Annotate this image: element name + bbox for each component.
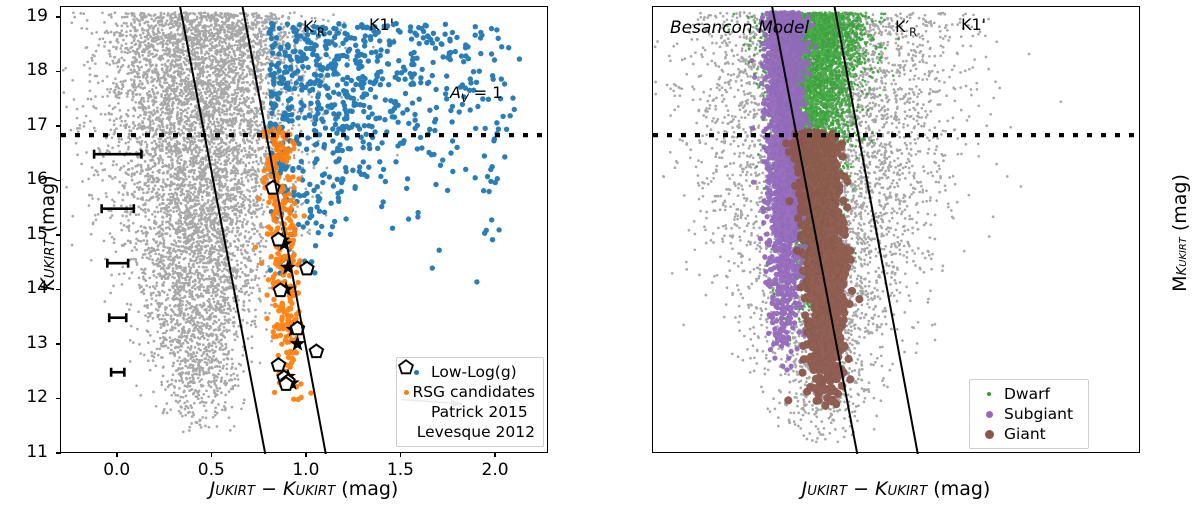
figure-root: 111213141516171819 0.00.51.01.52.0 JUKIR… <box>0 0 1200 515</box>
model-annotation: Besancon Model <box>670 18 809 38</box>
x-title-ksub: UKIRT <box>296 484 336 499</box>
x-tick-mark <box>494 452 496 457</box>
y-tick-label: 18 <box>26 60 48 80</box>
legend-label: Giant <box>1002 425 1046 443</box>
y-tick-mark <box>56 398 61 400</box>
y-title-ksub: UKIRT <box>43 238 58 278</box>
x-tick-mark <box>305 452 307 457</box>
y-tick-mark <box>56 71 61 73</box>
right-legend[interactable]: DwarfSubgiantGiant <box>969 379 1089 449</box>
x-tick-mark <box>211 452 213 457</box>
left-x-axis-title: JUKIRT − KUKIRT (mag) <box>210 478 399 500</box>
x-tick-label: 1.5 <box>387 460 414 480</box>
dot-marker <box>987 392 991 396</box>
y2-title-msub: K <box>1175 267 1190 276</box>
right-kr-prime-label: K′R <box>895 17 917 36</box>
y-title-unit: (mag) <box>37 175 59 238</box>
legend-dot-icon <box>976 430 1002 439</box>
legend-dot-icon <box>976 392 1002 396</box>
x-tick-mark <box>400 452 402 457</box>
left-legend-item[interactable]: Levesque 2012 <box>403 422 535 442</box>
reddening-vector-label: AV = 1 <box>450 83 502 102</box>
y2-title-unit: (mag) <box>1169 174 1191 237</box>
right-legend-item[interactable]: Dwarf <box>976 384 1080 404</box>
av-sub: V <box>461 92 469 105</box>
x-tick-label: 0.0 <box>103 460 130 480</box>
right-legend-item[interactable]: Giant <box>976 424 1080 444</box>
legend-label: RSG candidates <box>410 383 535 401</box>
y-tick-label: 12 <box>26 387 48 407</box>
right-y-axis-title: MKUKIRT (mag) <box>1169 123 1191 343</box>
x-title-unit: (mag) <box>335 478 398 500</box>
left-legend[interactable]: Low-Log(g)RSG candidatesPatrick 2015Leve… <box>396 357 544 447</box>
kr2-text: K′ <box>895 17 909 36</box>
y2-title-msubsub: UKIRT <box>1178 237 1189 267</box>
legend-label: Subgiant <box>1002 405 1073 423</box>
y-tick-label: 11 <box>26 442 48 462</box>
av-label: A <box>450 83 461 102</box>
left-legend-item[interactable]: Patrick 2015 <box>403 402 535 422</box>
dot-marker <box>985 430 994 439</box>
x2-title-jsub: UKIRT <box>807 484 847 499</box>
y-tick-mark <box>56 16 61 18</box>
x2-title-unit: (mag) <box>927 478 990 500</box>
x-tick-label: 1.0 <box>292 460 319 480</box>
dot-marker <box>986 411 993 418</box>
left-y-axis-title: KUKIRT (mag) <box>37 123 59 343</box>
y-tick-mark <box>56 343 61 345</box>
x2-title-ksub: UKIRT <box>888 484 928 499</box>
x-title-k: K <box>283 478 295 500</box>
right-x-axis-title: JUKIRT − KUKIRT (mag) <box>802 478 991 500</box>
left-k1-prime-label: K1' <box>369 15 394 34</box>
legend-label: Dwarf <box>1002 385 1050 403</box>
x2-title-minus: − <box>847 478 875 500</box>
right-legend-item[interactable]: Subgiant <box>976 404 1080 424</box>
kr2-sub: R <box>909 26 917 39</box>
x-tick-label: 2.0 <box>482 460 509 480</box>
x-title-minus: − <box>255 478 283 500</box>
legend-dot-icon <box>976 411 1002 418</box>
left-panel: 111213141516171819 0.00.51.01.52.0 JUKIR… <box>0 0 600 515</box>
x-title-jsub: UKIRT <box>215 484 255 499</box>
y-title-k: K <box>37 278 59 290</box>
kr-text: K′ <box>303 17 317 36</box>
k12-text: K1' <box>961 15 986 34</box>
legend-label: Patrick 2015 <box>429 403 528 421</box>
kr-sub: R <box>317 26 325 39</box>
left-kr-prime-label: K′R <box>303 17 325 36</box>
x-tick-label: 0.5 <box>198 460 225 480</box>
left-legend-item[interactable]: Low-Log(g) <box>403 362 535 382</box>
y-tick-mark <box>56 452 61 454</box>
right-panel: 111213141516171819 −12−11−10−9−8−7−6−5−4… <box>600 0 1200 515</box>
right-k1-prime-label: K1' <box>961 15 986 34</box>
y-tick-label: 19 <box>26 6 48 26</box>
left-legend-item[interactable]: RSG candidates <box>403 382 535 402</box>
dot-marker <box>404 390 409 395</box>
legend-label: Levesque 2012 <box>415 423 535 441</box>
x2-title-k: K <box>875 478 887 500</box>
y2-title-m: M <box>1169 275 1191 291</box>
legend-dot-icon <box>403 390 410 395</box>
legend-label: Low-Log(g) <box>429 363 517 381</box>
av-eq: = 1 <box>469 83 503 102</box>
x-tick-mark <box>116 452 118 457</box>
k1-text: K1' <box>369 15 394 34</box>
